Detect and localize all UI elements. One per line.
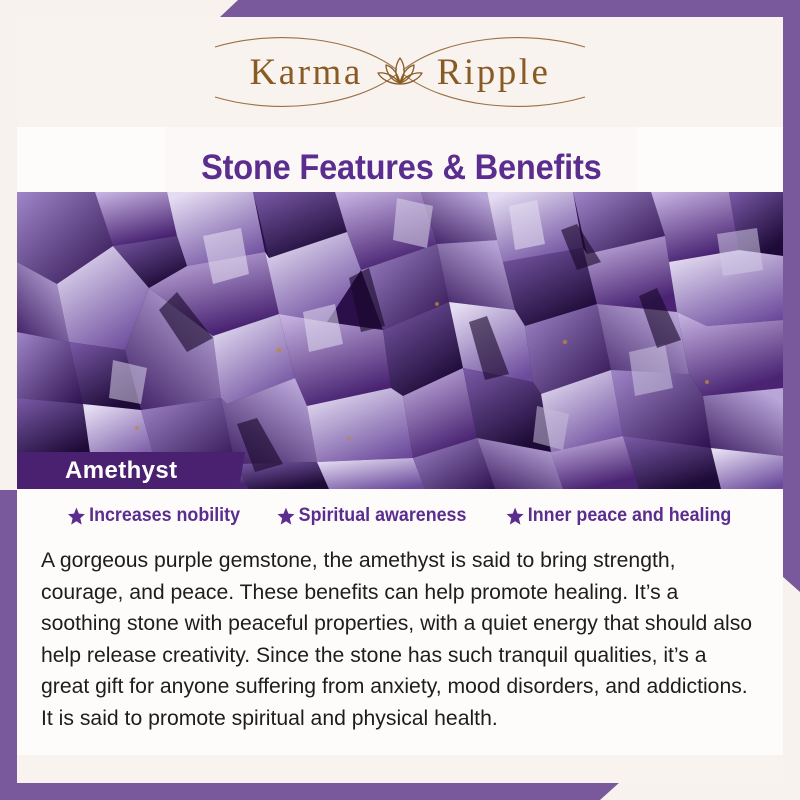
benefit-label: Inner peace and healing <box>528 505 731 527</box>
benefits-list: Increases nobility Spiritual awareness I… <box>17 505 783 527</box>
star-icon <box>506 507 524 526</box>
page-title: Stone Features & Benefits <box>201 148 602 188</box>
brand-word-right: Ripple <box>437 51 551 94</box>
stone-description: A gorgeous purple gemstone, the amethyst… <box>41 545 754 735</box>
stone-photo <box>17 192 783 489</box>
amethyst-crystal-cluster-illustration <box>17 192 783 489</box>
lotus-icon <box>377 55 423 89</box>
content-card: Karma Ripple Stone Features & <box>17 17 783 783</box>
stone-name: Amethyst <box>65 457 178 485</box>
brand-wordmark: Karma Ripple <box>250 51 551 94</box>
benefit-item: Spiritual awareness <box>277 505 466 527</box>
brand-logo: Karma Ripple <box>185 27 615 117</box>
frame-band-left <box>0 490 17 800</box>
frame-band-top <box>220 0 800 17</box>
frame-band-bottom <box>0 782 620 800</box>
benefit-item: Inner peace and healing <box>506 505 731 527</box>
benefit-label: Spiritual awareness <box>299 505 467 527</box>
star-icon <box>277 507 295 526</box>
frame-band-right <box>782 0 800 592</box>
bottom-strip <box>17 755 783 783</box>
benefit-item: Increases nobility <box>67 505 240 527</box>
brand-word-left: Karma <box>250 51 363 94</box>
benefit-label: Increases nobility <box>89 505 240 527</box>
star-icon <box>67 507 85 526</box>
product-infographic: Karma Ripple Stone Features & <box>0 0 800 800</box>
stone-name-banner: Amethyst <box>17 452 245 489</box>
brand-header: Karma Ripple <box>17 17 783 127</box>
